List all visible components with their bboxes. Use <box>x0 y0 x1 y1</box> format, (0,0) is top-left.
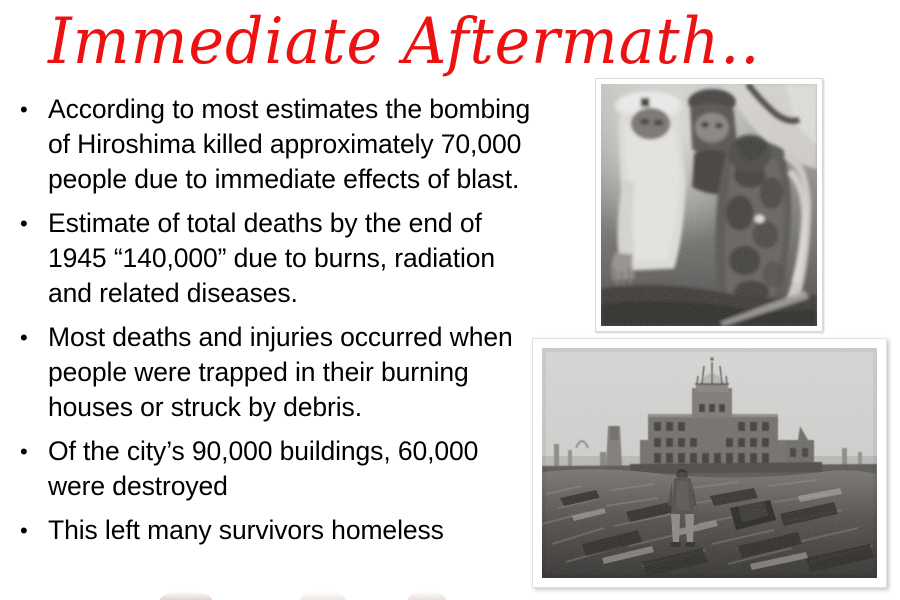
list-item: • Estimate of total deaths by the end of… <box>10 206 535 311</box>
list-item: • Of the city’s 90,000 buildings, 60,000… <box>10 434 535 504</box>
burn-victims-photo <box>601 84 817 326</box>
burn-victims-photo-frame <box>595 78 823 332</box>
list-item-text: This left many survivors homeless <box>48 515 444 545</box>
edge-artifact <box>300 591 346 600</box>
list-item: • This left many survivors homeless <box>10 513 535 548</box>
slide: Immediate Aftermath.. • According to mos… <box>0 0 900 600</box>
hiroshima-ruins-photo <box>542 348 877 578</box>
list-item: • According to most estimates the bombin… <box>10 92 535 197</box>
bullet-marker-icon: • <box>20 92 28 127</box>
list-item-text: Of the city’s 90,000 buildings, 60,000 w… <box>48 436 478 501</box>
hiroshima-ruins-photo-graphic <box>542 348 877 578</box>
page-title: Immediate Aftermath.. <box>48 8 868 76</box>
list-item-text: According to most estimates the bombing … <box>48 94 530 194</box>
edge-artifact <box>160 591 212 600</box>
bullet-marker-icon: • <box>20 206 28 241</box>
bullet-marker-icon: • <box>20 320 28 355</box>
edge-artifact <box>408 591 446 600</box>
hiroshima-ruins-photo-frame <box>532 338 887 588</box>
bullet-marker-icon: • <box>20 513 28 548</box>
list-item-text: Most deaths and injuries occurred when p… <box>48 322 513 422</box>
list-item: • Most deaths and injuries occurred when… <box>10 320 535 425</box>
bullet-list: • According to most estimates the bombin… <box>10 92 535 548</box>
bullet-marker-icon: • <box>20 434 28 469</box>
list-item-text: Estimate of total deaths by the end of 1… <box>48 208 495 308</box>
burn-victims-photo-graphic <box>601 84 817 326</box>
